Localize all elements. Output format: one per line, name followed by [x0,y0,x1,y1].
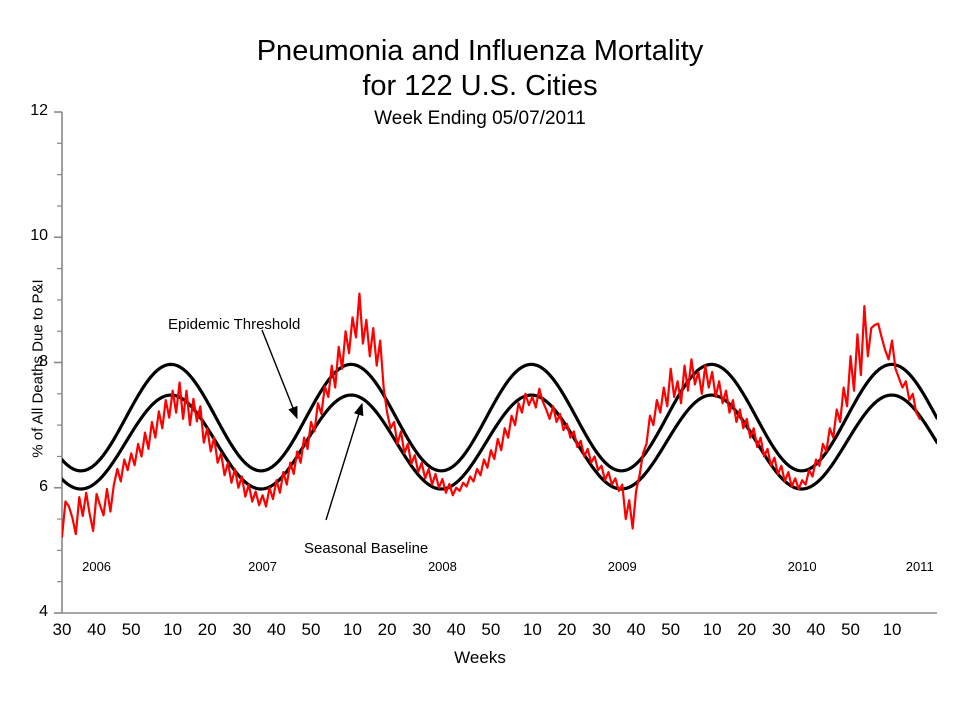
x-tick-label: 50 [651,620,691,640]
annotation-arrow [326,404,362,520]
chart-root: Pneumonia and Influenza Mortality for 12… [0,0,960,720]
x-tick-label: 50 [831,620,871,640]
x-tick-label: 50 [291,620,331,640]
plot-canvas [0,0,960,720]
y-tick-label: 4 [6,603,48,621]
year-label: 2008 [412,559,472,574]
y-axis-ticks [54,112,62,613]
x-tick-label: 50 [471,620,511,640]
y-tick-label: 6 [6,478,48,496]
x-tick-label: 10 [872,620,912,640]
year-label: 2011 [890,559,950,574]
y-tick-label: 8 [6,353,48,371]
year-label: 2009 [592,559,652,574]
series-line-epidemic-threshold [62,364,937,470]
year-label: 2010 [772,559,832,574]
y-tick-label: 12 [6,102,48,120]
year-label: 2006 [67,559,127,574]
annotation-arrow [262,330,297,418]
year-label: 2007 [233,559,293,574]
annotation-label: Seasonal Baseline [304,540,428,557]
annotation-label: Epidemic Threshold [168,316,300,333]
y-tick-label: 10 [6,227,48,245]
x-tick-label: 50 [111,620,151,640]
